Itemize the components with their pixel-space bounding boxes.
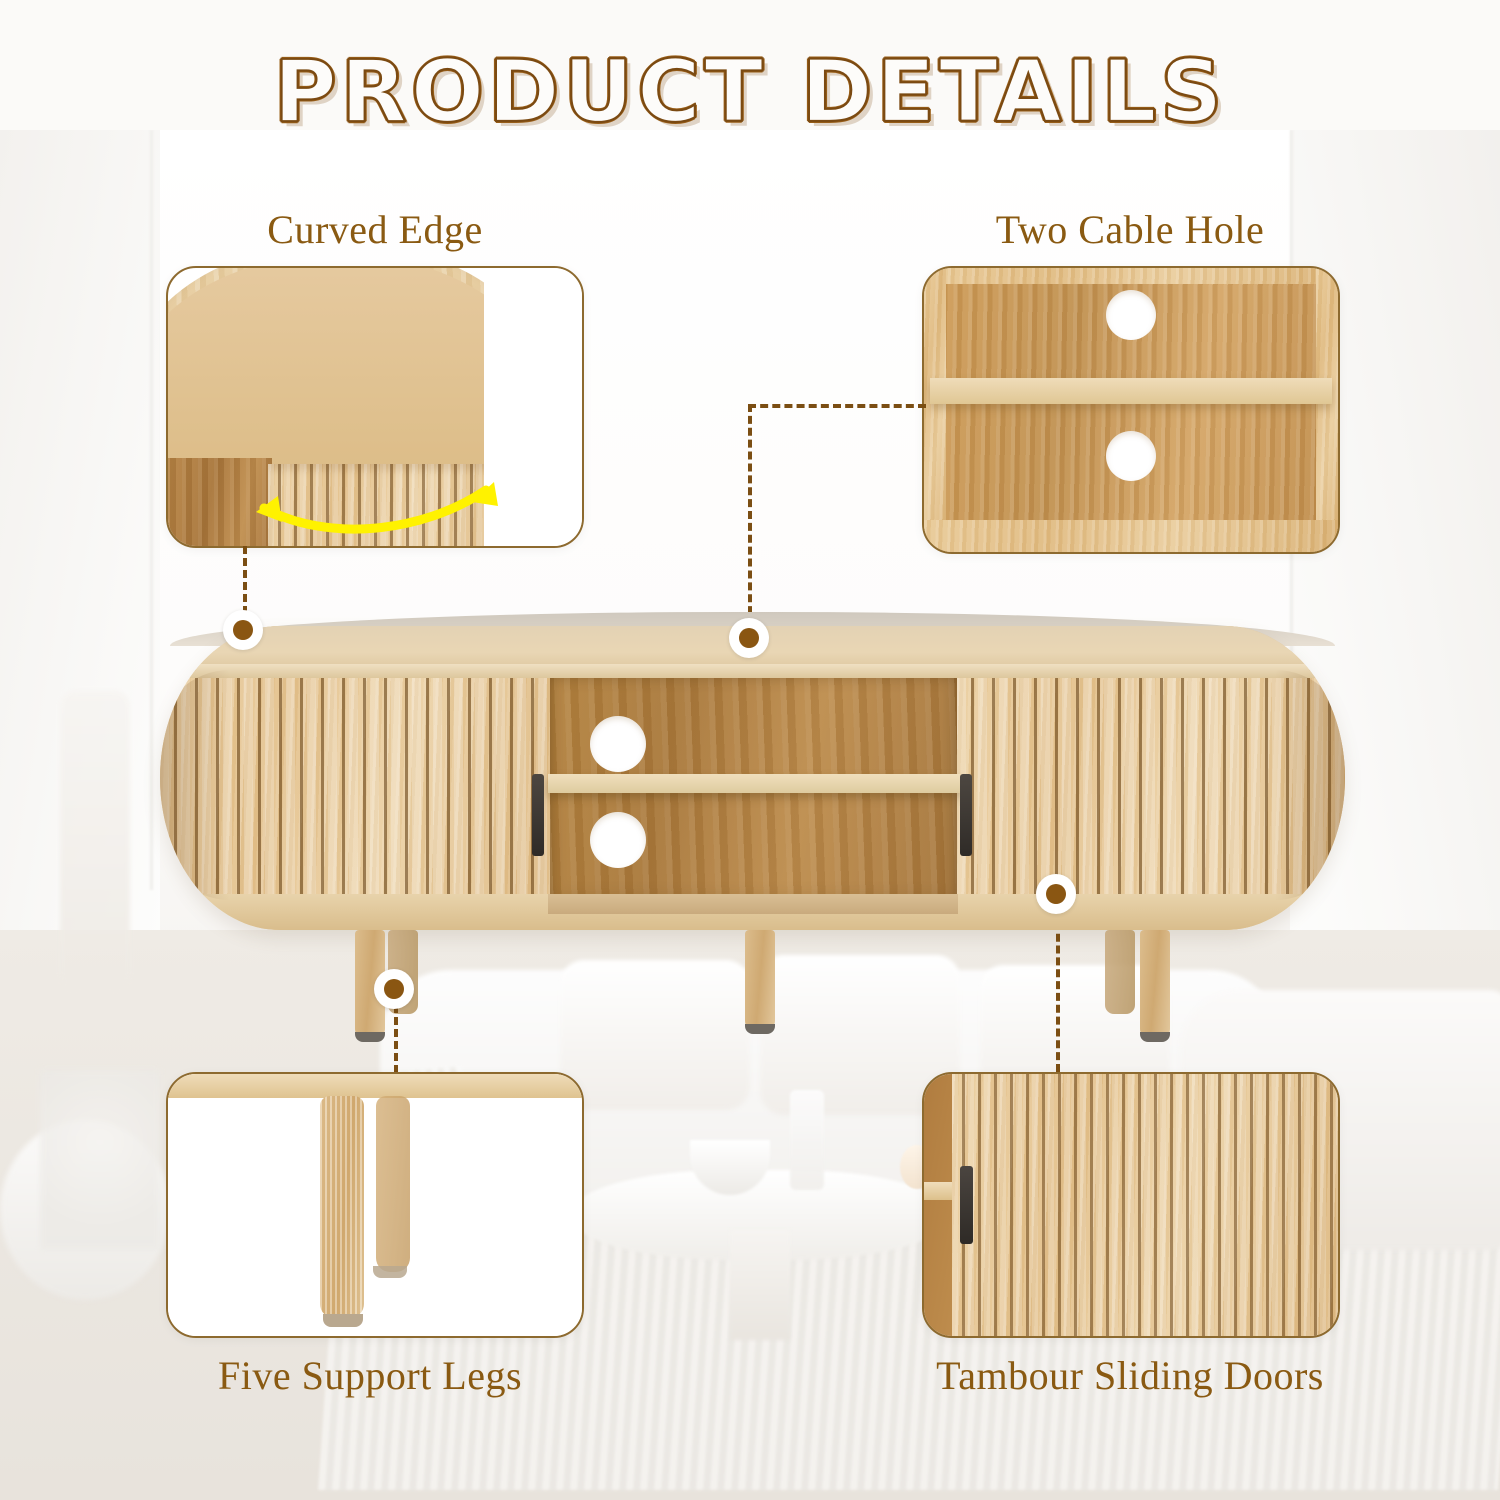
page-title: PRODUCT DETAILS	[0, 42, 1500, 142]
callout-label-two-cable-hole: Two Cable Hole	[915, 206, 1345, 253]
support-leg-5	[1140, 930, 1170, 1038]
detail-leg-back	[376, 1096, 410, 1272]
connector-cable-hole-horizontal	[748, 404, 926, 408]
infographic-stage: PRODUCT DETAILS Curved Edge Two Cable Ho…	[0, 0, 1500, 1500]
detail-box-curved-edge	[166, 266, 584, 548]
window-frame-line	[150, 130, 153, 890]
cabinet-right-frame	[1316, 268, 1338, 552]
callout-dot-icon	[1046, 884, 1066, 904]
leg-foot-5	[1140, 1032, 1170, 1042]
leg-foot-1	[355, 1032, 385, 1042]
detail-leg-foot-front	[323, 1314, 363, 1327]
door-handle-detail	[960, 1166, 973, 1244]
cabinet-bottom-frame	[924, 520, 1338, 552]
cable-hole-lower	[1106, 431, 1156, 481]
callout-label-tambour-sliding-doors: Tambour Sliding Doors	[880, 1352, 1380, 1399]
product-cabinet-body	[160, 626, 1345, 930]
leg-foot-3	[745, 1024, 775, 1034]
page-title-text: PRODUCT DETAILS	[274, 42, 1227, 142]
marker-curved-edge[interactable]	[223, 610, 263, 650]
connector-five-support-legs	[394, 1005, 398, 1073]
curved-end-right-shading	[1275, 670, 1345, 900]
product-cable-hole-upper	[590, 716, 646, 772]
support-leg-4-back	[1105, 930, 1135, 1014]
flute-lines-detail	[952, 1074, 1338, 1336]
cabinet-base-panel	[168, 1074, 582, 1098]
detail-box-tambour-sliding-doors	[922, 1072, 1340, 1338]
marker-five-support-legs[interactable]	[374, 969, 414, 1009]
vase	[790, 1090, 824, 1190]
coffee-table-base	[730, 1230, 790, 1340]
callout-label-curved-edge: Curved Edge	[170, 206, 580, 253]
connector-tambour-sliding-doors	[1056, 910, 1060, 1072]
detail-leg-front	[320, 1096, 364, 1318]
curve-arrow-icon	[246, 456, 506, 546]
detail-box-five-support-legs	[166, 1072, 584, 1338]
detail-box-two-cable-hole	[922, 266, 1340, 554]
support-leg-3	[745, 930, 775, 1030]
callout-label-five-support-legs: Five Support Legs	[155, 1352, 585, 1399]
product-image-tv-stand	[160, 612, 1345, 1032]
marker-tambour-sliding-doors[interactable]	[1036, 874, 1076, 914]
callout-dot-icon	[233, 620, 253, 640]
tambour-door-detail	[952, 1074, 1338, 1336]
cabinet-top-frame	[924, 268, 1338, 284]
floor-lamp	[60, 690, 130, 990]
marker-two-cable-hole[interactable]	[729, 618, 769, 658]
callout-dot-icon	[384, 979, 404, 999]
box-white-space	[168, 1074, 582, 1336]
cabinet-left-frame	[924, 268, 946, 552]
divider-shelf	[930, 378, 1332, 404]
connector-cable-hole-vertical	[748, 404, 752, 626]
detail-leg-foot-back	[373, 1266, 407, 1278]
door-handle-right[interactable]	[960, 774, 972, 856]
cabinet-top-lip	[160, 664, 1345, 678]
callout-dot-icon	[739, 628, 759, 648]
plant	[40, 1070, 160, 1250]
center-shelf	[548, 774, 960, 793]
curved-end-left-shading	[160, 670, 230, 900]
cable-hole-upper	[1106, 290, 1156, 340]
door-handle-left[interactable]	[532, 774, 544, 856]
center-floor	[548, 894, 958, 914]
product-cable-hole-lower	[590, 812, 646, 868]
